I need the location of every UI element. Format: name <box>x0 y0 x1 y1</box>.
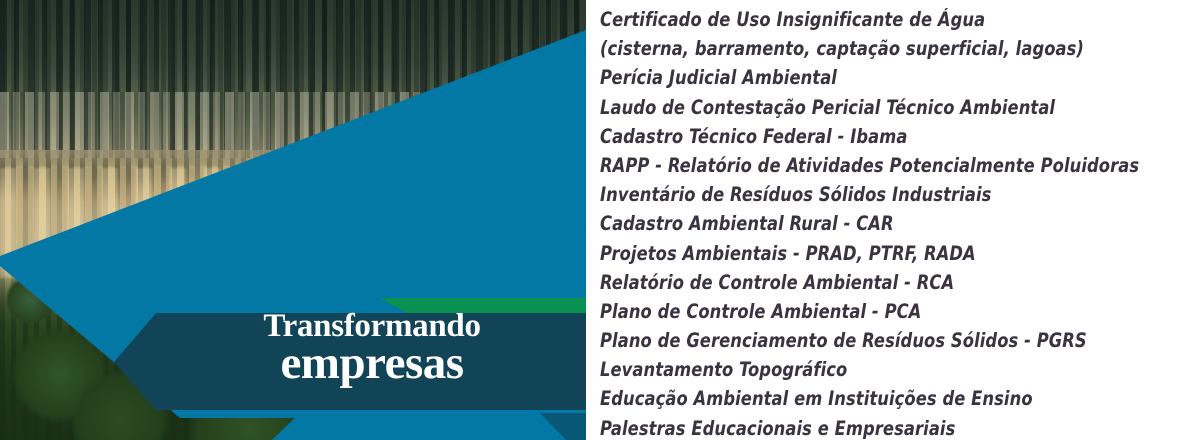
promotional-banner: Transformando empresas Certificado de Us… <box>0 0 1200 440</box>
service-list-item: Palestras Educacionais e Empresariais <box>600 414 1158 440</box>
service-list: Certificado de Uso Insignificante de Águ… <box>600 0 1200 440</box>
service-list-item: Projetos Ambientais - PRAD, PTRF, RADA <box>600 239 1158 268</box>
graphic-block: Transformando empresas <box>0 0 586 440</box>
service-list-item: Laudo de Contestação Pericial Técnico Am… <box>600 93 1158 122</box>
service-list-item: Certificado de Uso Insignificante de Águ… <box>600 5 1158 34</box>
service-list-item: Relatório de Controle Ambiental - RCA <box>600 268 1158 297</box>
headline: Transformando empresas <box>172 310 572 387</box>
service-list-item: Cadastro Ambiental Rural - CAR <box>600 209 1158 238</box>
service-list-item: Cadastro Técnico Federal - Ibama <box>600 122 1158 151</box>
service-list-item: RAPP - Relatório de Atividades Potencial… <box>600 151 1158 180</box>
service-list-item: Perícia Judicial Ambiental <box>600 63 1158 92</box>
service-list-item: Inventário de Resíduos Sólidos Industria… <box>600 180 1158 209</box>
service-list-item: Levantamento Topográfico <box>600 355 1158 384</box>
headline-line-2: empresas <box>172 340 572 387</box>
service-list-item: (cisterna, barramento, captação superfic… <box>600 34 1158 63</box>
service-list-item: Plano de Controle Ambiental - PCA <box>600 297 1158 326</box>
service-list-item: Plano de Gerenciamento de Resíduos Sólid… <box>600 326 1158 355</box>
service-list-item: Educação Ambiental em Instituições de En… <box>600 384 1158 413</box>
